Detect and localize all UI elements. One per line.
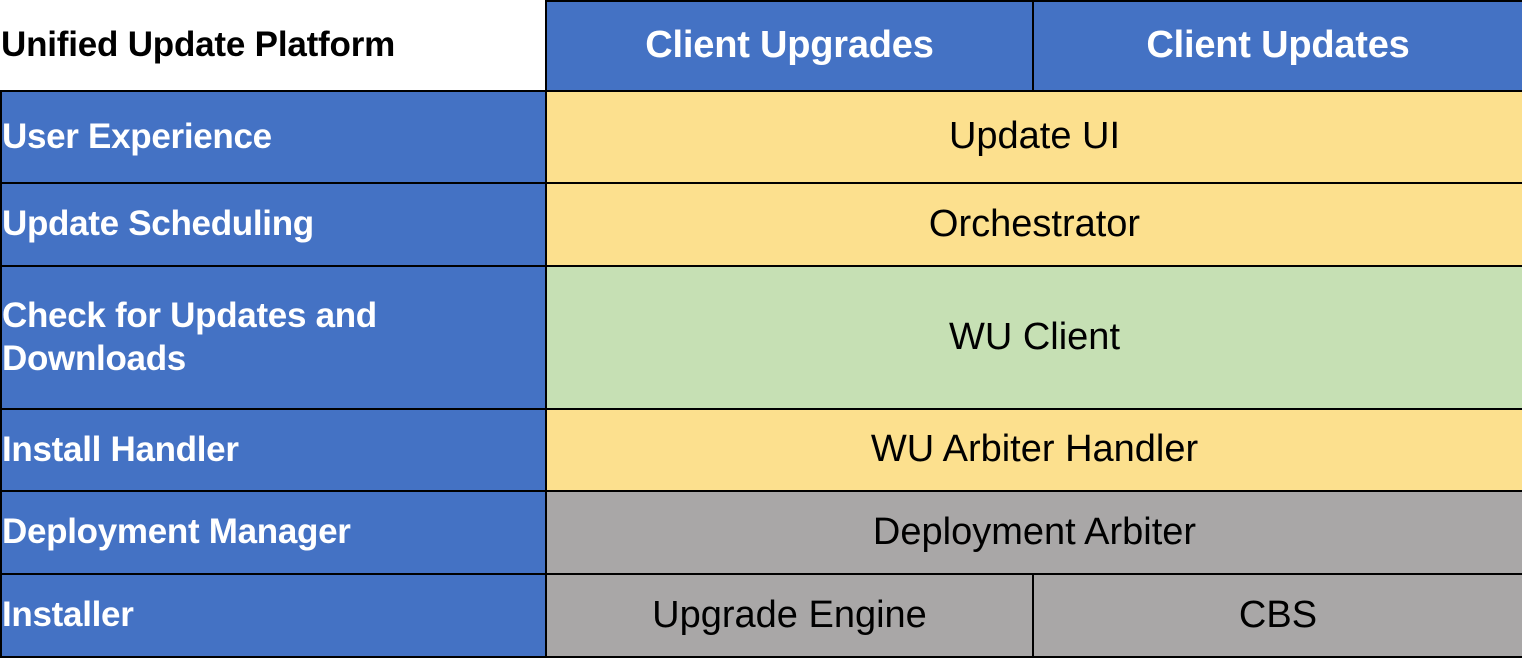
row-label-deployment-manager: Deployment Manager: [1, 491, 546, 574]
cell-wu-arbiter-handler: WU Arbiter Handler: [546, 409, 1522, 491]
table-row: Check for Updates and Downloads WU Clien…: [1, 266, 1522, 409]
cell-orchestrator: Orchestrator: [546, 183, 1522, 266]
cell-upgrade-engine: Upgrade Engine: [546, 574, 1033, 657]
table-header-row: Unified Update Platform Client Upgrades …: [1, 1, 1522, 91]
table-row: User Experience Update UI: [1, 91, 1522, 183]
row-label-user-experience: User Experience: [1, 91, 546, 183]
unified-update-platform-table: Unified Update Platform Client Upgrades …: [0, 0, 1522, 658]
table-row: Installer Upgrade Engine CBS: [1, 574, 1522, 657]
table-row: Install Handler WU Arbiter Handler: [1, 409, 1522, 491]
row-label-check-for-updates-and-downloads: Check for Updates and Downloads: [1, 266, 546, 409]
row-label-update-scheduling: Update Scheduling: [1, 183, 546, 266]
table-row: Deployment Manager Deployment Arbiter: [1, 491, 1522, 574]
row-label-installer: Installer: [1, 574, 546, 657]
row-label-install-handler: Install Handler: [1, 409, 546, 491]
cell-update-ui: Update UI: [546, 91, 1522, 183]
table-row: Update Scheduling Orchestrator: [1, 183, 1522, 266]
column-header-client-updates: Client Updates: [1033, 1, 1522, 91]
cell-cbs: CBS: [1033, 574, 1522, 657]
column-header-client-upgrades: Client Upgrades: [546, 1, 1033, 91]
cell-wu-client: WU Client: [546, 266, 1522, 409]
page-title: Unified Update Platform: [1, 1, 546, 91]
cell-deployment-arbiter: Deployment Arbiter: [546, 491, 1522, 574]
